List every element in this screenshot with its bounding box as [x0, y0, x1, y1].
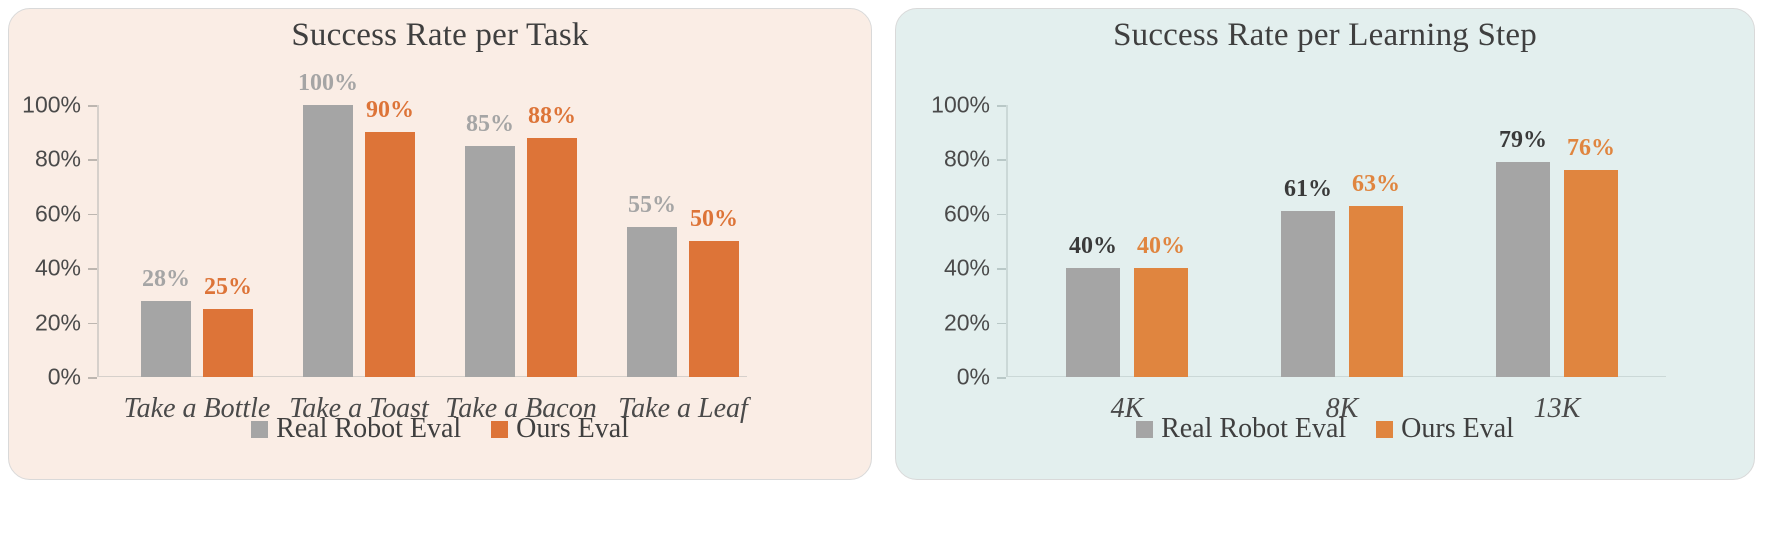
legend-item[interactable]: Real Robot Eval: [251, 413, 461, 445]
legend-task: Real Robot EvalOurs Eval: [9, 413, 871, 445]
legend-item[interactable]: Ours Eval: [491, 413, 629, 445]
bar-value-label: 76%: [1567, 135, 1615, 162]
bar-value-label: 63%: [1352, 171, 1400, 198]
bar-real-robot-eval[interactable]: 85%: [465, 146, 515, 377]
bar-value-label: 79%: [1499, 127, 1547, 154]
y-axis-tick: [88, 159, 97, 161]
y-axis-tick-label: 0%: [957, 364, 990, 391]
chart-panel-task: Success Rate per Task 0%20%40%60%80%100%…: [8, 8, 872, 480]
y-axis-line: [97, 105, 99, 377]
bar-ours-eval[interactable]: 25%: [203, 309, 253, 377]
bar-real-robot-eval[interactable]: 100%: [303, 105, 353, 377]
bar-ours-eval[interactable]: 50%: [689, 241, 739, 377]
y-axis-tick-label: 80%: [35, 146, 81, 173]
page-title: Success Rate per Task: [9, 17, 871, 54]
page-title: Success Rate per Learning Step: [896, 17, 1754, 54]
legend-item[interactable]: Ours Eval: [1376, 413, 1514, 445]
legend-label: Real Robot Eval: [276, 413, 461, 445]
legend-swatch-icon: [1136, 421, 1153, 438]
y-axis-tick-label: 80%: [944, 146, 990, 173]
legend-swatch-icon: [491, 421, 508, 438]
bar-value-label: 100%: [298, 70, 358, 97]
bar-ours-eval[interactable]: 88%: [527, 138, 577, 377]
bar-value-label: 25%: [204, 274, 252, 301]
plot-area-task: 0%20%40%60%80%100%28%25%Take a Bottle100…: [97, 105, 747, 377]
bar-group: 100%90%Take a Toast: [303, 105, 425, 377]
bar-real-robot-eval[interactable]: 28%: [141, 301, 191, 377]
y-axis-tick: [997, 377, 1006, 379]
legend-label: Real Robot Eval: [1161, 413, 1346, 445]
y-axis-tick-label: 60%: [944, 200, 990, 227]
y-axis-tick-label: 40%: [35, 255, 81, 282]
bar-value-label: 40%: [1069, 233, 1117, 260]
bar-real-robot-eval[interactable]: 40%: [1066, 268, 1120, 377]
y-axis-tick: [88, 323, 97, 325]
bar-group: 85%88%Take a Bacon: [465, 105, 587, 377]
y-axis-tick: [997, 214, 1006, 216]
bar-value-label: 28%: [142, 266, 190, 293]
bar-ours-eval[interactable]: 76%: [1564, 170, 1618, 377]
y-axis-tick-label: 20%: [944, 309, 990, 336]
bar-group: 61%63%8K: [1281, 105, 1446, 377]
y-axis-tick-label: 100%: [22, 92, 81, 119]
chart-panel-learning-step: Success Rate per Learning Step 0%20%40%6…: [895, 8, 1755, 480]
y-axis-tick: [997, 323, 1006, 325]
y-axis-line: [1006, 105, 1008, 377]
bar-group: 79%76%13K: [1496, 105, 1661, 377]
y-axis-tick-label: 40%: [944, 255, 990, 282]
bar-value-label: 88%: [528, 103, 576, 130]
bar-value-label: 90%: [366, 97, 414, 124]
y-axis-tick: [997, 105, 1006, 107]
bar-ours-eval[interactable]: 40%: [1134, 268, 1188, 377]
y-axis-tick: [997, 159, 1006, 161]
y-axis-tick-label: 0%: [48, 364, 81, 391]
legend-swatch-icon: [251, 421, 268, 438]
bar-group: 28%25%Take a Bottle: [141, 105, 263, 377]
y-axis-tick: [88, 377, 97, 379]
y-axis-tick-label: 20%: [35, 309, 81, 336]
y-axis-tick: [88, 268, 97, 270]
plot-area-learning-step: 0%20%40%60%80%100%40%40%4K61%63%8K79%76%…: [1006, 105, 1666, 377]
y-axis-tick: [88, 105, 97, 107]
bar-value-label: 61%: [1284, 176, 1332, 203]
bar-value-label: 40%: [1137, 233, 1185, 260]
legend-learning-step: Real Robot EvalOurs Eval: [896, 413, 1754, 445]
bar-group: 40%40%4K: [1066, 105, 1231, 377]
bar-real-robot-eval[interactable]: 55%: [627, 227, 677, 377]
bar-ours-eval[interactable]: 63%: [1349, 206, 1403, 377]
bar-value-label: 50%: [690, 206, 738, 233]
bar-real-robot-eval[interactable]: 79%: [1496, 162, 1550, 377]
bar-ours-eval[interactable]: 90%: [365, 132, 415, 377]
legend-label: Ours Eval: [1401, 413, 1514, 445]
bar-value-label: 85%: [466, 111, 514, 138]
legend-label: Ours Eval: [516, 413, 629, 445]
y-axis-tick: [88, 214, 97, 216]
bar-group: 55%50%Take a Leaf: [627, 105, 749, 377]
legend-item[interactable]: Real Robot Eval: [1136, 413, 1346, 445]
bar-value-label: 55%: [628, 192, 676, 219]
y-axis-tick: [997, 268, 1006, 270]
y-axis-tick-label: 100%: [931, 92, 990, 119]
legend-swatch-icon: [1376, 421, 1393, 438]
bar-real-robot-eval[interactable]: 61%: [1281, 211, 1335, 377]
y-axis-tick-label: 60%: [35, 200, 81, 227]
